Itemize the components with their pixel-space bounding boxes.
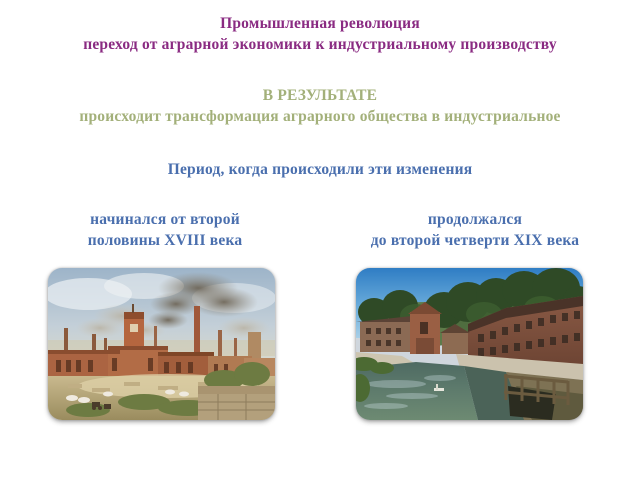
- result-description: происходит трансформация аграрного общес…: [0, 106, 640, 127]
- period-heading: Период, когда происходили эти изменения: [0, 159, 640, 180]
- slide-canvas: Промышленная революция переход от аграрн…: [0, 0, 640, 480]
- period-block: Период, когда происходили эти изменения: [0, 159, 640, 180]
- factory-illustration: [48, 268, 275, 420]
- result-block: В РЕЗУЛЬТАТЕ происходит трансформация аг…: [0, 85, 640, 128]
- title-line-2: переход от аграрной экономики к индустри…: [0, 34, 640, 55]
- period-start-column: начинался от второй половины XVIII века: [20, 209, 310, 252]
- historic-mill-photo: [356, 268, 583, 420]
- period-start-line-2: половины XVIII века: [20, 230, 310, 251]
- result-heading: В РЕЗУЛЬТАТЕ: [0, 85, 640, 106]
- period-end-line-2: до второй четверти XIX века: [330, 230, 620, 251]
- industrial-factory-painting: [48, 268, 275, 420]
- mill-illustration: [356, 268, 583, 420]
- period-end-line-1: продолжался: [330, 209, 620, 230]
- period-end-column: продолжался до второй четверти XIX века: [330, 209, 620, 252]
- title-block: Промышленная революция переход от аграрн…: [0, 13, 640, 56]
- period-start-line-1: начинался от второй: [20, 209, 310, 230]
- title-line-1: Промышленная революция: [0, 13, 640, 34]
